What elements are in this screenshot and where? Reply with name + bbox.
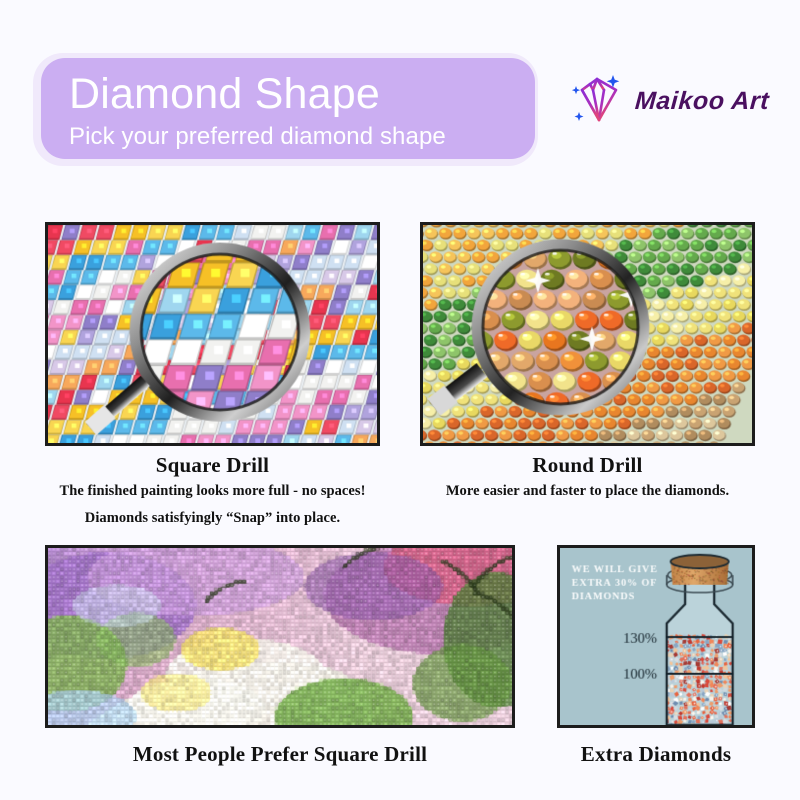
square-drill-image bbox=[45, 222, 380, 446]
diamond-gem-icon bbox=[566, 70, 628, 132]
round-drill-image bbox=[420, 222, 755, 446]
page-header: Diamond Shape Pick your preferred diamon… bbox=[0, 0, 800, 185]
extra-diamonds-image bbox=[557, 545, 755, 728]
brand-logo: Maikoo Art bbox=[566, 68, 790, 134]
round-drill-line-1: More easier and faster to place the diam… bbox=[400, 483, 775, 500]
header-banner: Diamond Shape Pick your preferred diamon… bbox=[41, 58, 535, 159]
finished-canvas-image bbox=[45, 545, 515, 728]
square-drill-title: Square Drill bbox=[45, 453, 380, 478]
page-subtitle: Pick your preferred diamond shape bbox=[69, 121, 535, 153]
most-people-title: Most People Prefer Square Drill bbox=[45, 742, 515, 767]
page-title: Diamond Shape bbox=[69, 67, 535, 121]
square-drill-line-1: The finished painting looks more full - … bbox=[20, 483, 405, 500]
extra-diamonds-title: Extra Diamonds bbox=[557, 742, 755, 767]
square-drill-line-2: Diamonds satisfyingly “Snap” into place. bbox=[20, 510, 405, 527]
brand-wordmark: Maikoo Art bbox=[634, 87, 770, 116]
promo-infographic-page: Diamond Shape Pick your preferred diamon… bbox=[0, 0, 800, 800]
round-drill-title: Round Drill bbox=[420, 453, 755, 478]
